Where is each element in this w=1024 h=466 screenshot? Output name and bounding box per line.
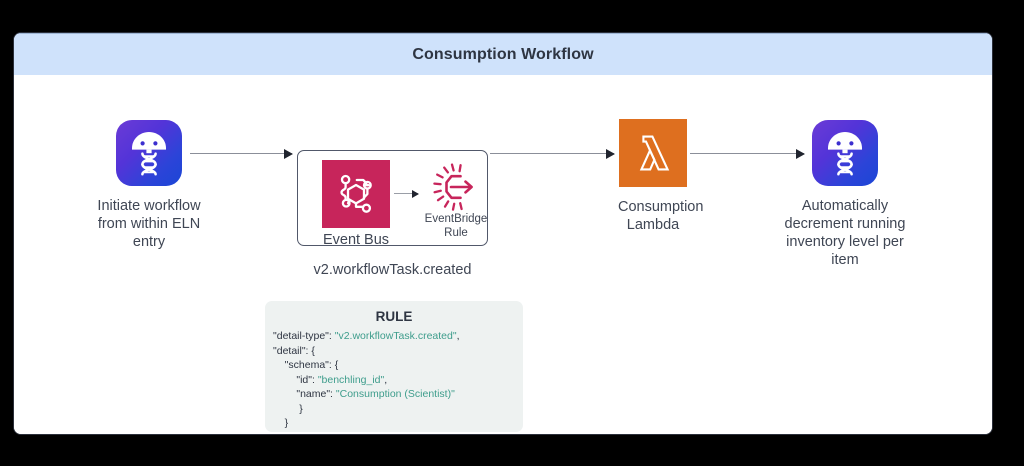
rule-panel-code: "detail-type": "v2.workflowTask.created"… bbox=[271, 329, 517, 431]
rule-code-line: "name": "Consumption (Scientist)" bbox=[273, 387, 517, 402]
label-line: Initiate workflow bbox=[87, 197, 211, 215]
rule-code-key: "id": bbox=[273, 374, 318, 386]
card-body: Initiate workflow from within ELN entry bbox=[14, 75, 992, 434]
rule-code-key: "detail": { bbox=[273, 345, 315, 357]
label-line: Lambda bbox=[618, 216, 688, 234]
rule-code-key: "schema": { bbox=[273, 359, 338, 371]
rule-code-value: "Consumption (Scientist)" bbox=[336, 388, 455, 400]
rule-code-suffix: , bbox=[384, 374, 387, 386]
benchling-icon bbox=[116, 120, 182, 186]
label-line: item bbox=[782, 251, 908, 269]
label-line: Consumption bbox=[618, 198, 688, 216]
rule-code-line: } bbox=[273, 402, 517, 417]
node-eventbridge-rule-label: EventBridge Rule bbox=[419, 213, 493, 240]
consumption-workflow-card: Consumption Workflow bbox=[14, 33, 992, 434]
connector-eventbridge-to-lambda bbox=[490, 153, 614, 154]
rule-code-line: "schema": { bbox=[273, 358, 517, 373]
node-event-bus-label: Event Bus bbox=[320, 232, 392, 249]
label-line: from within ELN bbox=[87, 215, 211, 233]
node-initiate-workflow[interactable]: Initiate workflow from within ELN entry bbox=[87, 120, 211, 251]
eventbridge-group-box[interactable]: Event Bus bbox=[297, 150, 488, 246]
rule-code-value: "v2.workflowTask.created" bbox=[335, 330, 457, 342]
diagram-canvas: Consumption Workflow bbox=[0, 0, 1024, 466]
label-line: inventory level per bbox=[782, 233, 908, 251]
rule-code-suffix: , bbox=[457, 330, 460, 342]
aws-eventbridge-event-bus-icon bbox=[322, 160, 390, 228]
rule-panel[interactable]: RULE "detail-type": "v2.workflowTask.cre… bbox=[265, 301, 523, 432]
rule-code-value: "benchling_id" bbox=[318, 374, 384, 386]
rule-code-line: } bbox=[273, 416, 517, 431]
rule-panel-title: RULE bbox=[271, 309, 517, 324]
rule-code-key: "detail-type": bbox=[273, 330, 335, 342]
benchling-icon bbox=[812, 120, 878, 186]
eventbridge-group-caption: v2.workflowTask.created bbox=[297, 261, 488, 279]
rule-code-line: "detail": { bbox=[273, 344, 517, 359]
label-line: Rule bbox=[419, 227, 493, 241]
node-decrement-inventory-label: Automatically decrement running inventor… bbox=[782, 197, 908, 269]
node-consumption-lambda[interactable]: Consumption Lambda bbox=[618, 119, 688, 234]
page-title: Consumption Workflow bbox=[412, 46, 593, 64]
label-line: entry bbox=[87, 233, 211, 251]
node-initiate-workflow-label: Initiate workflow from within ELN entry bbox=[87, 197, 211, 251]
node-decrement-inventory[interactable]: Automatically decrement running inventor… bbox=[782, 120, 908, 269]
label-line: EventBridge bbox=[419, 213, 493, 227]
label-line: Automatically bbox=[782, 197, 908, 215]
rule-code-line: "id": "benchling_id", bbox=[273, 373, 517, 388]
node-eventbridge-rule[interactable]: EventBridge Rule bbox=[419, 161, 493, 240]
aws-eventbridge-rule-icon bbox=[429, 161, 483, 213]
node-consumption-lambda-label: Consumption Lambda bbox=[618, 198, 688, 234]
rule-code-key: } bbox=[273, 417, 288, 429]
node-event-bus[interactable]: Event Bus bbox=[320, 160, 392, 249]
aws-lambda-icon bbox=[619, 119, 687, 187]
label-line: decrement running bbox=[782, 215, 908, 233]
rule-code-key: } bbox=[273, 403, 303, 415]
rule-code-key: "name": bbox=[273, 388, 336, 400]
card-header: Consumption Workflow bbox=[14, 33, 992, 75]
connector-bus-to-rule bbox=[394, 193, 418, 194]
connector-initiate-to-eventbridge bbox=[190, 153, 292, 154]
rule-code-line: "detail-type": "v2.workflowTask.created"… bbox=[273, 329, 517, 344]
